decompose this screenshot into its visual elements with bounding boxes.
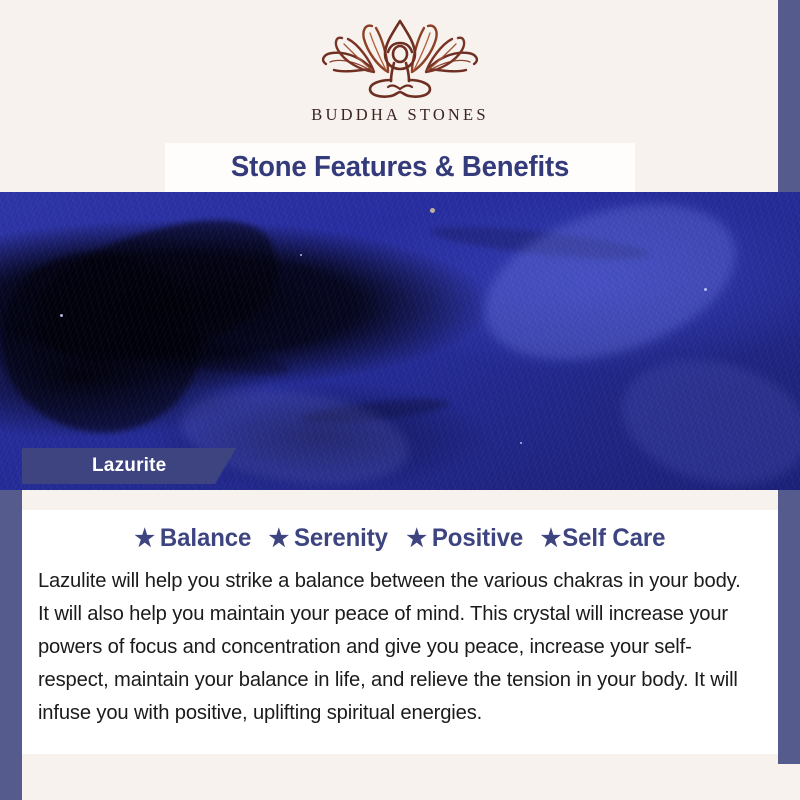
stone-speck — [300, 254, 302, 256]
page-body: BUDDHA STONES Stone Features & Benefits — [22, 0, 778, 800]
brand-name: BUDDHA STONES — [311, 105, 488, 125]
content-panel: ★ Balance ★ Serenity ★ Positive ★ Self C… — [22, 510, 778, 754]
stone-speck — [60, 314, 63, 317]
benefits-row: ★ Balance ★ Serenity ★ Positive ★ Self C… — [34, 524, 766, 553]
lotus-meditation-figure-icon — [318, 18, 482, 100]
benefit-positive: ★ Positive — [406, 524, 523, 553]
brand-logo: BUDDHA STONES — [22, 18, 778, 125]
star-icon: ★ — [406, 527, 427, 551]
star-icon: ★ — [134, 527, 155, 551]
content-bottom-strip — [22, 754, 778, 800]
benefit-label: Serenity — [294, 524, 388, 553]
benefit-balance: ★ Balance — [134, 524, 251, 553]
benefit-serenity: ★ Serenity — [269, 524, 388, 553]
benefit-label: Positive — [432, 524, 523, 553]
stone-info-card: BUDDHA STONES Stone Features & Benefits — [0, 0, 800, 800]
stone-name: Lazurite — [92, 455, 166, 477]
page-title: Stone Features & Benefits — [231, 151, 569, 184]
stone-description: Lazulite will help you strike a balance … — [34, 564, 755, 729]
stone-texture-grain — [0, 192, 800, 490]
benefit-label: Self Care — [563, 524, 666, 553]
page-title-band: Stone Features & Benefits — [165, 143, 635, 192]
star-icon: ★ — [541, 527, 562, 551]
star-icon: ★ — [269, 527, 290, 551]
stone-name-banner: Lazurite — [22, 448, 236, 484]
stone-speck — [520, 442, 522, 444]
frame-left-border — [0, 466, 22, 800]
benefit-self-care: ★ Self Care — [541, 524, 666, 553]
stone-photo — [0, 192, 800, 490]
content-top-strip — [22, 490, 778, 510]
stone-speck — [704, 288, 707, 291]
stone-speck — [430, 208, 435, 213]
benefit-label: Balance — [160, 524, 251, 553]
